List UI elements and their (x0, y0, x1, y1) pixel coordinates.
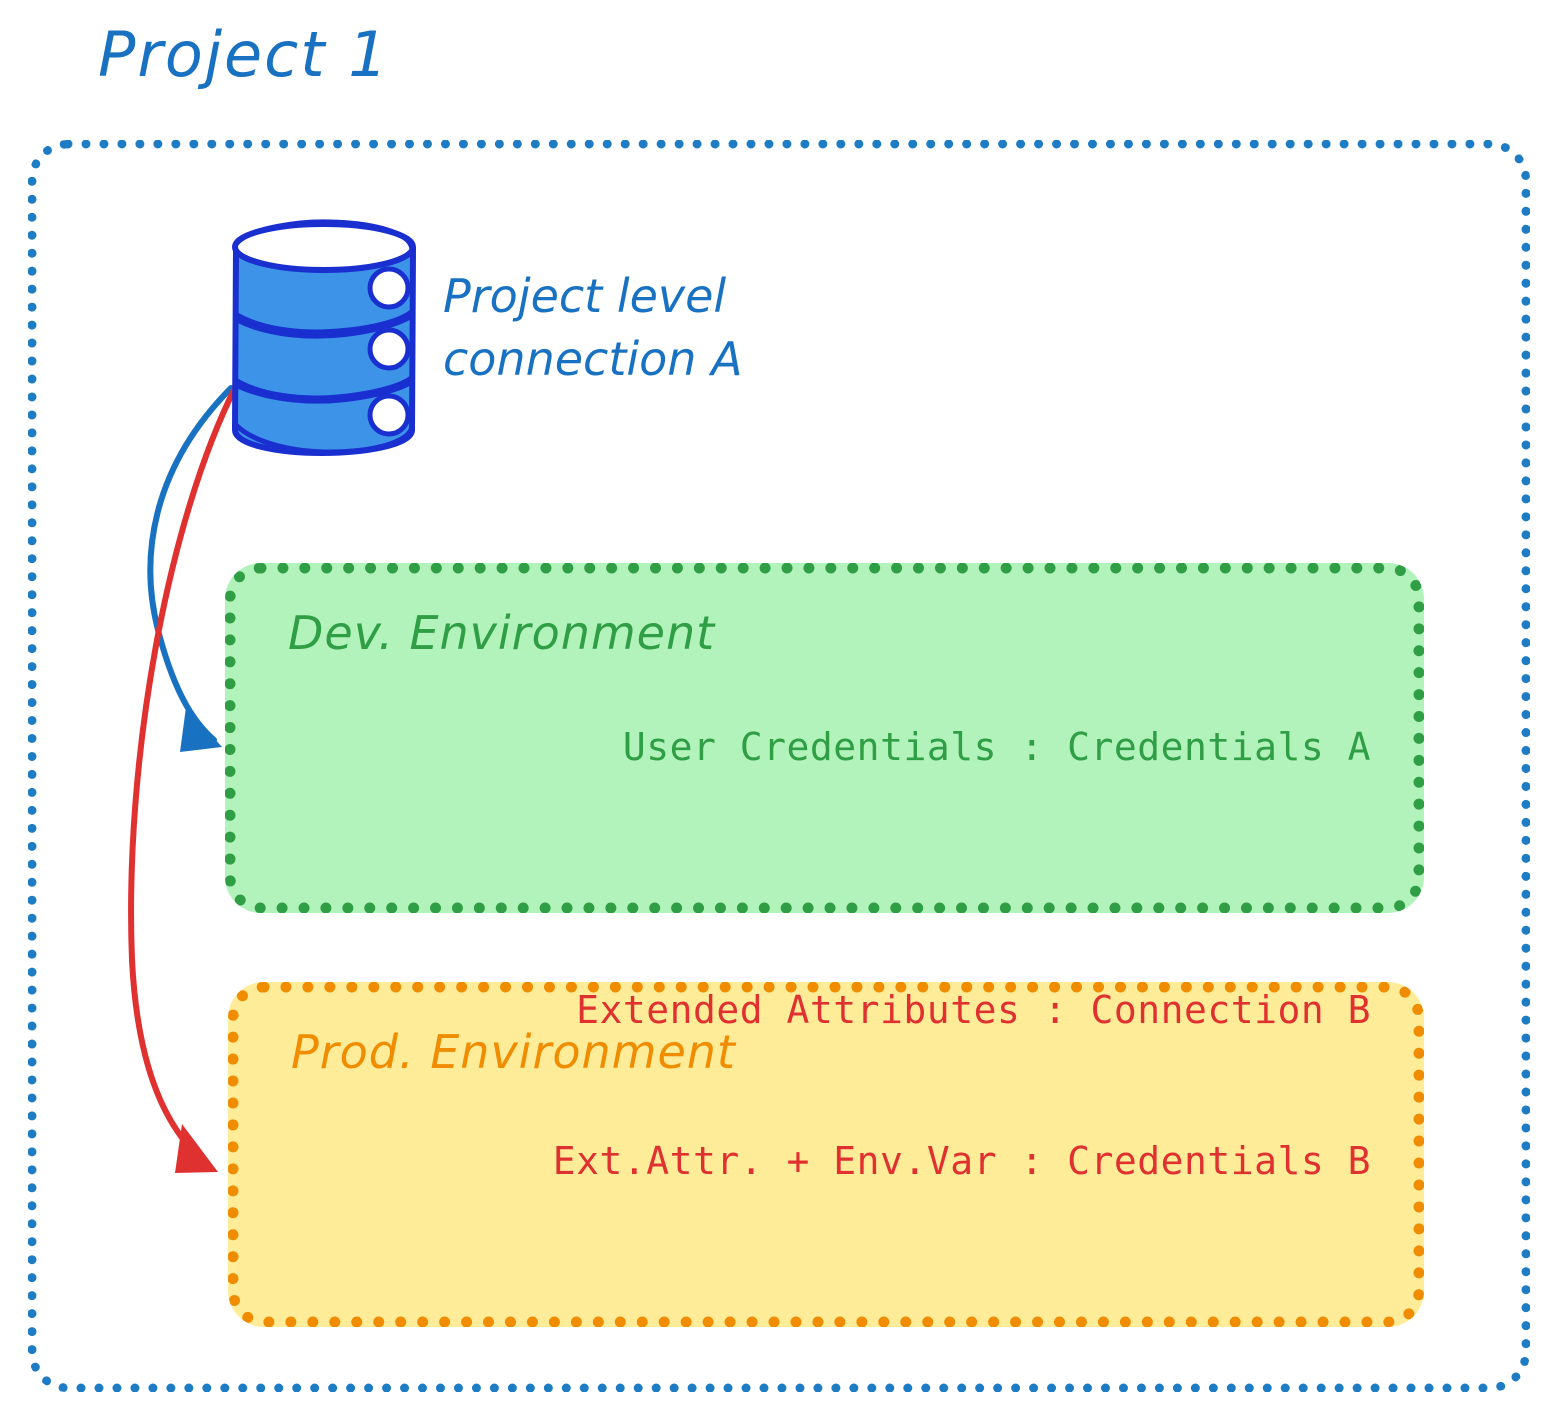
project-title: Project 1 (98, 18, 390, 91)
database-label-line-2: connection A (443, 332, 743, 386)
prod-detail-line-1: Extended Attributes : Connection B (553, 985, 1371, 1036)
dev-environment-details: User Credentials : Credentials A (623, 621, 1371, 874)
prod-detail-line-2: Ext.Attr. + Env.Var : Credentials B (553, 1136, 1371, 1187)
dev-detail-line: User Credentials : Credentials A (623, 722, 1371, 773)
prod-environment-box: Prod. Environment Extended Attributes : … (228, 982, 1424, 1327)
database-label-line-1: Project level (443, 269, 726, 323)
dev-environment-box: Dev. Environment User Credentials : Cred… (225, 563, 1424, 913)
database-label: Project levelconnection A (443, 265, 743, 390)
prod-environment-details: Extended Attributes : Connection B Ext.A… (553, 884, 1371, 1288)
